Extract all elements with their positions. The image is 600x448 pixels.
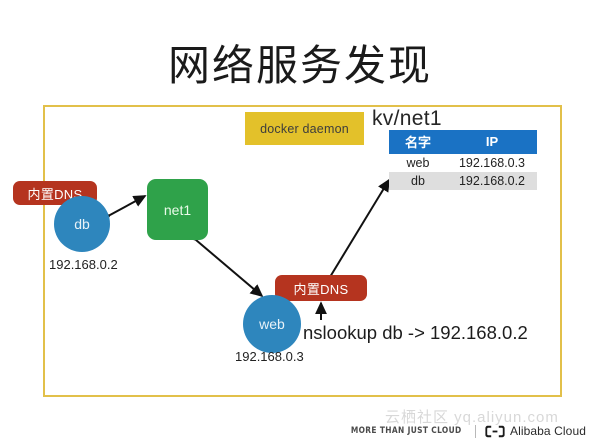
brand-name: Alibaba Cloud [510,424,586,438]
column-header-ip: IP [447,130,537,154]
page-title: 网络服务发现 [0,32,600,93]
footer-tagline: MORE THAN JUST CLOUD [350,426,461,436]
node-net1: net1 [147,179,208,240]
column-header-name: 名字 [389,130,447,154]
table-row: db 192.168.0.2 [389,172,537,190]
node-db: db [54,196,110,252]
cell-ip: 192.168.0.2 [447,172,537,190]
alibaba-cloud-logo-icon [485,425,505,438]
nslookup-caption: nslookup db -> 192.168.0.2 [303,322,528,344]
node-web: web [243,295,301,353]
kv-store-title: kv/net1 [372,107,442,131]
cell-name: db [389,172,447,190]
kv-store-table: 名字 IP web 192.168.0.3 db 192.168.0.2 [389,130,537,190]
docker-daemon-label: docker daemon [245,112,364,145]
dns-badge-web: 内置DNS [275,275,367,301]
slide-root: 网络服务发现 docker daemon kv/net1 名字 IP [0,0,600,448]
brand-lockup: Alibaba Cloud [485,424,586,438]
footer-divider [475,425,476,438]
table-header-row: 名字 IP [389,130,537,154]
node-web-ip: 192.168.0.3 [235,349,304,364]
cell-ip: 192.168.0.3 [447,154,537,172]
table-row: web 192.168.0.3 [389,154,537,172]
cell-name: web [389,154,447,172]
slide-footer: MORE THAN JUST CLOUD Alibaba Cloud [0,420,600,442]
node-db-ip: 192.168.0.2 [49,257,118,272]
